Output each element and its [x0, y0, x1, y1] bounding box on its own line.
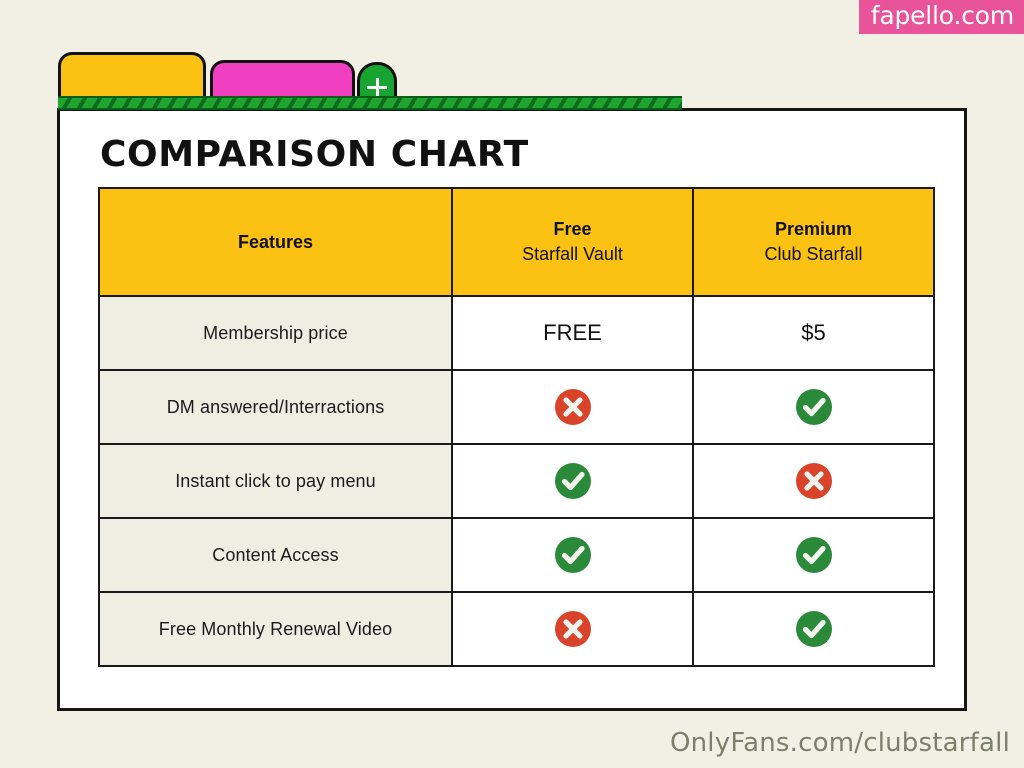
onlyfans-watermark: OnlyFans.com/clubstarfall: [670, 728, 1010, 758]
cell-premium: [693, 592, 934, 666]
cross-icon: [553, 387, 593, 427]
check-icon: [794, 535, 834, 575]
fapello-watermark: fapello.com: [859, 0, 1024, 34]
cell-free: FREE: [452, 296, 693, 370]
feature-label: Instant click to pay menu: [99, 444, 452, 518]
comparison-table: Features Free Starfall Vault Premium Clu…: [98, 187, 935, 667]
cell-premium: $5: [693, 296, 934, 370]
cell-premium: [693, 444, 934, 518]
table-row: DM answered/Interractions: [99, 370, 934, 444]
comparison-card: COMPARISON CHART Features Free Starfall …: [57, 108, 967, 711]
check-icon: [553, 535, 593, 575]
column-header-free: Free Starfall Vault: [452, 188, 693, 296]
column-header-free-subtitle: Starfall Vault: [453, 242, 692, 267]
column-header-premium: Premium Club Starfall: [693, 188, 934, 296]
column-header-features-label: Features: [100, 232, 451, 253]
table-row: Free Monthly Renewal Video: [99, 592, 934, 666]
table-header: Features Free Starfall Vault Premium Clu…: [99, 188, 934, 296]
page-title: COMPARISON CHART: [100, 134, 529, 175]
table-row: Instant click to pay menu: [99, 444, 934, 518]
column-header-free-title: Free: [453, 217, 692, 241]
check-icon: [553, 461, 593, 501]
table-header-row: Features Free Starfall Vault Premium Clu…: [99, 188, 934, 296]
cell-free: [452, 518, 693, 592]
feature-label: Content Access: [99, 518, 452, 592]
feature-label: Membership price: [99, 296, 452, 370]
column-header-premium-title: Premium: [694, 217, 933, 241]
rope-divider: [58, 96, 682, 110]
table-row: Membership price FREE $5: [99, 296, 934, 370]
table-body: Membership price FREE $5 DM answered/Int…: [99, 296, 934, 666]
check-icon: [794, 387, 834, 427]
cell-premium: [693, 518, 934, 592]
cell-free: [452, 592, 693, 666]
feature-label: Free Monthly Renewal Video: [99, 592, 452, 666]
plus-icon: [367, 78, 387, 98]
check-icon: [794, 609, 834, 649]
cell-free: [452, 444, 693, 518]
column-header-features: Features: [99, 188, 452, 296]
table-row: Content Access: [99, 518, 934, 592]
cross-icon: [553, 609, 593, 649]
cell-free: [452, 370, 693, 444]
column-header-premium-subtitle: Club Starfall: [694, 242, 933, 267]
cell-premium: [693, 370, 934, 444]
cross-icon: [794, 461, 834, 501]
feature-label: DM answered/Interractions: [99, 370, 452, 444]
